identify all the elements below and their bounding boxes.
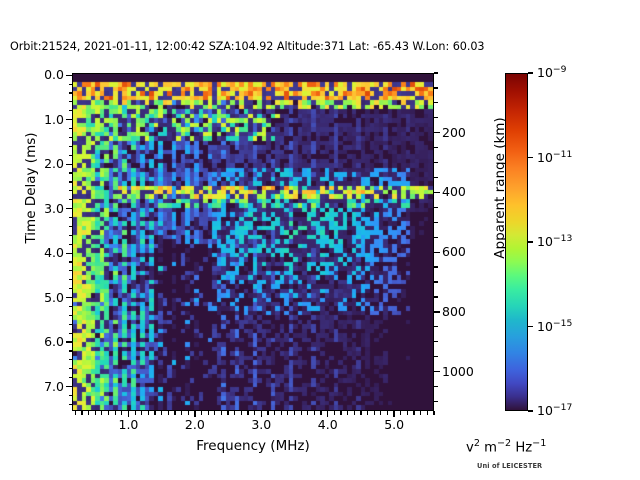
y2-axis-minor-tick: [434, 72, 438, 73]
x-axis-minor-tick: [141, 411, 142, 415]
y-axis-minor-tick: [69, 270, 73, 271]
y2-axis-tick-label: 800: [442, 304, 466, 319]
x-axis-minor-tick: [387, 411, 388, 415]
x-axis-minor-tick: [294, 411, 295, 415]
x-axis-minor-tick: [274, 411, 275, 415]
y2-axis-tick-label: 1000: [442, 364, 474, 379]
y2-axis-tick-label: 200: [442, 125, 466, 140]
x-axis-minor-tick: [367, 411, 368, 415]
x-axis-minor-tick: [340, 411, 341, 415]
x-axis-minor-tick: [267, 411, 268, 415]
y2-axis-major-tick: [434, 192, 440, 193]
x-axis-tick-label: 4.0: [318, 417, 338, 432]
x-axis-minor-tick: [407, 411, 408, 415]
y2-axis-major-tick: [434, 252, 440, 253]
x-axis-minor-tick: [221, 411, 222, 415]
y-axis-minor-tick: [69, 181, 73, 182]
y2-axis-minor-tick: [434, 281, 438, 282]
y-axis-tick-label: 3.0: [44, 201, 64, 216]
x-axis-minor-tick: [88, 411, 89, 415]
y2-axis-minor-tick: [434, 87, 438, 88]
x-axis-minor-tick: [108, 411, 109, 415]
y2-axis-major-tick: [434, 311, 440, 312]
y-axis-tick-label: 0.0: [44, 67, 64, 82]
y-axis-minor-tick: [69, 226, 73, 227]
y-axis-major-tick: [66, 341, 72, 342]
x-axis-minor-tick: [354, 411, 355, 415]
x-axis-minor-tick: [314, 411, 315, 415]
colorbar-tick: [528, 157, 533, 158]
x-axis-minor-tick: [75, 411, 76, 415]
x-axis-tick-label: 1.0: [119, 417, 139, 432]
y-axis-tick-label: 6.0: [44, 334, 64, 349]
x-axis-minor-tick: [201, 411, 202, 415]
ionogram-plot-area: [72, 73, 434, 411]
colorbar-tick-label: 10−13: [537, 233, 572, 249]
y2-axis-minor-tick: [434, 266, 438, 267]
y-axis-minor-tick: [69, 244, 73, 245]
x-axis-minor-tick: [420, 411, 421, 415]
y-axis-minor-tick: [69, 199, 73, 200]
x-axis-tick-label: 2.0: [185, 417, 205, 432]
y2-axis-minor-tick: [434, 117, 438, 118]
colorbar-tick: [528, 241, 533, 242]
y-axis-minor-tick: [69, 172, 73, 173]
y-axis-minor-tick: [69, 84, 73, 85]
y2-axis-minor-tick: [434, 326, 438, 327]
y-axis-major-tick: [66, 253, 72, 254]
x-axis-minor-tick: [347, 411, 348, 415]
colorbar-tick: [528, 326, 533, 327]
y-axis-tick-label: 2.0: [44, 156, 64, 171]
x-axis-minor-tick: [254, 411, 255, 415]
y2-axis-minor-tick: [434, 296, 438, 297]
colorbar-gradient: [505, 73, 528, 411]
y2-axis-minor-tick: [434, 177, 438, 178]
y-axis-minor-tick: [69, 324, 73, 325]
y2-axis-minor-tick: [434, 207, 438, 208]
y-axis-minor-tick: [69, 110, 73, 111]
x-axis-tick-label: 3.0: [251, 417, 271, 432]
x-axis-minor-tick: [374, 411, 375, 415]
y2-axis-minor-tick: [434, 162, 438, 163]
x-axis-minor-tick: [427, 411, 428, 415]
colorbar-tick: [528, 72, 533, 73]
x-axis-minor-tick: [400, 411, 401, 415]
x-axis-minor-tick: [334, 411, 335, 415]
y-axis-minor-tick: [69, 395, 73, 396]
x-axis-minor-tick: [181, 411, 182, 415]
y2-axis-tick-label: 600: [442, 244, 466, 259]
y-axis-minor-tick: [69, 217, 73, 218]
x-axis-minor-tick: [208, 411, 209, 415]
colorbar-units-label: v2 m−2 Hz−1: [466, 438, 546, 455]
x-axis-label: Frequency (MHz): [72, 438, 434, 454]
y-axis-minor-tick: [69, 288, 73, 289]
y-axis-major-tick: [66, 164, 72, 165]
x-axis-minor-tick: [115, 411, 116, 415]
x-axis-minor-tick: [241, 411, 242, 415]
plot-title: Orbit:21524, 2021-01-11, 12:00:42 SZA:10…: [10, 40, 484, 54]
x-axis-minor-tick: [214, 411, 215, 415]
y2-axis-minor-tick: [434, 237, 438, 238]
y2-axis-minor-tick: [434, 401, 438, 402]
y-axis-major-tick: [66, 75, 72, 76]
colorbar-tick-label: 10−9: [537, 64, 566, 80]
x-axis-minor-tick: [135, 411, 136, 415]
x-axis-minor-tick: [301, 411, 302, 415]
x-axis-minor-tick: [95, 411, 96, 415]
y-axis-minor-tick: [69, 359, 73, 360]
x-axis-minor-tick: [154, 411, 155, 415]
x-axis-minor-tick: [281, 411, 282, 415]
x-axis-minor-tick: [161, 411, 162, 415]
y-axis-minor-tick: [69, 128, 73, 129]
x-axis-minor-tick: [380, 411, 381, 415]
institution-credit: Uni of LEICESTER: [477, 462, 542, 470]
x-axis-minor-tick: [101, 411, 102, 415]
x-axis-minor-tick: [287, 411, 288, 415]
x-axis-minor-tick: [360, 411, 361, 415]
x-axis-minor-tick: [174, 411, 175, 415]
heatmap-image: [73, 74, 433, 410]
y-axis-tick-label: 7.0: [44, 379, 64, 394]
y-axis-minor-tick: [69, 333, 73, 334]
colorbar-tick-label: 10−11: [537, 149, 572, 165]
y2-axis-minor-tick: [434, 222, 438, 223]
x-axis-minor-tick: [188, 411, 189, 415]
y-axis-minor-tick: [69, 137, 73, 138]
y-axis-major-tick: [66, 208, 72, 209]
y2-axis-minor-tick: [434, 102, 438, 103]
y2-axis-minor-tick: [434, 341, 438, 342]
x-axis-minor-tick: [307, 411, 308, 415]
x-axis-minor-tick: [148, 411, 149, 415]
x-axis-minor-tick: [168, 411, 169, 415]
colorbar-tick-label: 10−17: [537, 402, 572, 418]
y2-axis-minor-tick: [434, 386, 438, 387]
x-axis-minor-tick: [121, 411, 122, 415]
y-axis-tick-label: 1.0: [44, 112, 64, 127]
y-axis-minor-tick: [69, 279, 73, 280]
y-axis-minor-tick: [69, 368, 73, 369]
x-axis-minor-tick: [81, 411, 82, 415]
y-axis-tick-label: 4.0: [44, 245, 64, 260]
y-axis-minor-tick: [69, 235, 73, 236]
y-axis-minor-tick: [69, 101, 73, 102]
x-axis-tick-label: 5.0: [384, 417, 404, 432]
x-axis-minor-tick: [413, 411, 414, 415]
y2-axis-major-tick: [434, 371, 440, 372]
y-axis-major-tick: [66, 119, 72, 120]
x-axis-minor-tick: [234, 411, 235, 415]
y-axis-minor-tick: [69, 377, 73, 378]
y-axis-minor-tick: [69, 306, 73, 307]
y2-axis-minor-tick: [434, 356, 438, 357]
x-axis-minor-tick: [433, 411, 434, 415]
y-axis-minor-tick: [69, 190, 73, 191]
y-axis-minor-tick: [69, 146, 73, 147]
x-axis-minor-tick: [247, 411, 248, 415]
y-axis-tick-label: 5.0: [44, 290, 64, 305]
colorbar-tick: [528, 410, 533, 411]
y-axis-minor-tick: [69, 261, 73, 262]
y-axis-minor-tick: [69, 315, 73, 316]
y-axis-label: Time Delay (ms): [23, 38, 39, 338]
colorbar-tick-label: 10−15: [537, 318, 572, 334]
colorbar: [505, 73, 528, 411]
y-axis-minor-tick: [69, 92, 73, 93]
y-axis-minor-tick: [69, 404, 73, 405]
y-axis-major-tick: [66, 386, 72, 387]
y-axis-minor-tick: [69, 350, 73, 351]
y2-axis-major-tick: [434, 132, 440, 133]
y-axis-minor-tick: [69, 155, 73, 156]
x-axis-minor-tick: [320, 411, 321, 415]
x-axis-minor-tick: [227, 411, 228, 415]
y-axis-major-tick: [66, 297, 72, 298]
y2-axis-minor-tick: [434, 147, 438, 148]
y2-axis-tick-label: 400: [442, 184, 466, 199]
